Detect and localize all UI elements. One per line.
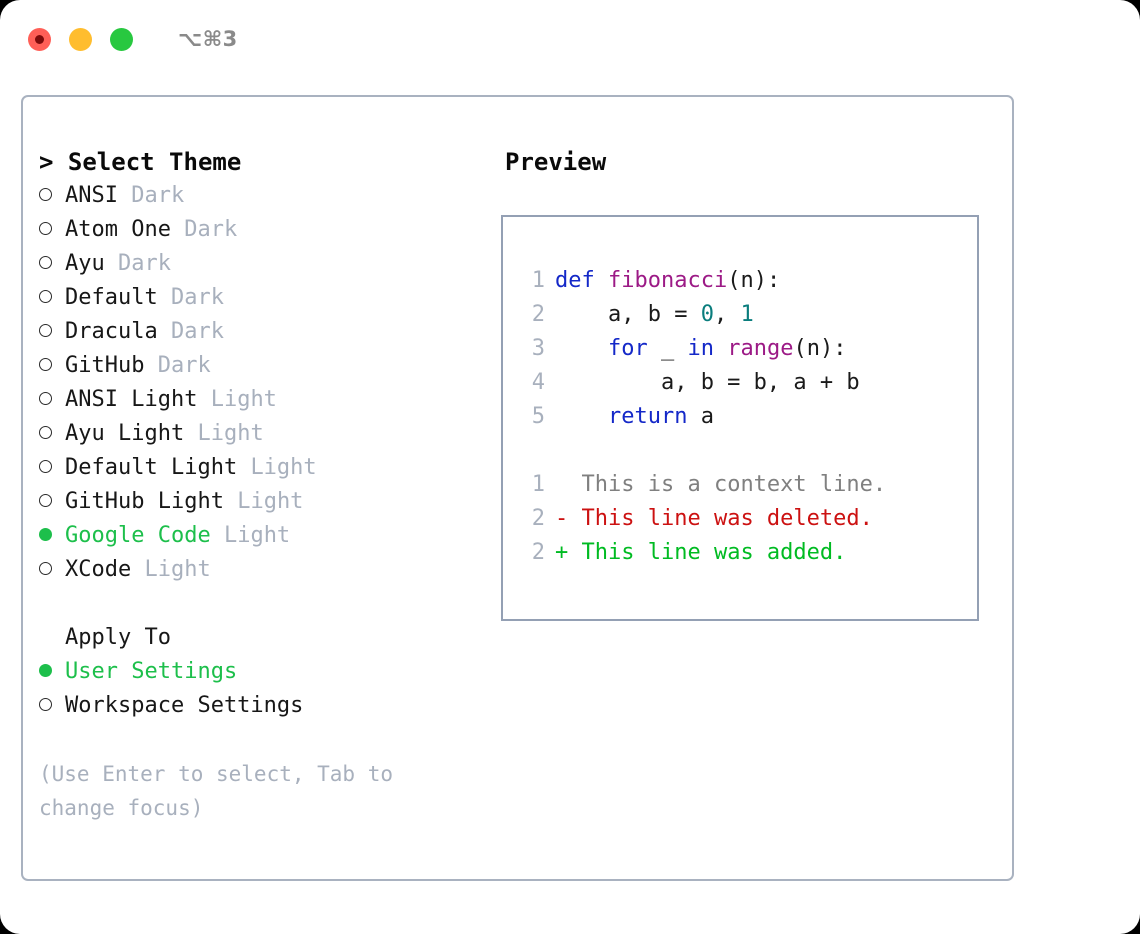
theme-option-variant: Light — [211, 383, 277, 417]
keyboard-shortcut-label: ⌥⌘3 — [178, 27, 238, 51]
radio-unselected-icon — [39, 324, 65, 337]
code-token-kw: in — [687, 336, 714, 361]
code-line-content: return a — [555, 400, 714, 434]
theme-option-label: Default Light — [65, 451, 237, 485]
theme-option-label: ANSI — [65, 179, 118, 213]
theme-option-variant: Dark — [171, 281, 224, 315]
apply-to-heading: Apply To — [39, 621, 491, 655]
line-number: 4 — [521, 366, 555, 400]
line-number: 2 — [521, 502, 555, 536]
theme-option-ayu-light[interactable]: Ayu Light Light — [39, 417, 491, 451]
code-line: 5 return a — [521, 400, 977, 434]
code-line: 2 a, b = 0, 1 — [521, 298, 977, 332]
radio-unselected-icon — [39, 698, 65, 711]
code-line-content: a, b = 0, 1 — [555, 298, 754, 332]
titlebar: ⌥⌘3 — [0, 0, 1140, 78]
select-theme-heading: > Select Theme — [39, 145, 491, 179]
line-number: 2 — [521, 536, 555, 570]
code-line-content: for _ in range(n): — [555, 332, 846, 366]
diff-line-add: 2+ This line was added. — [521, 536, 977, 570]
theme-option-variant: Dark — [158, 349, 211, 383]
code-token-plain — [714, 336, 727, 361]
code-token-num: 0 — [701, 302, 714, 327]
code-token-plain — [555, 336, 608, 361]
theme-option-variant: Light — [197, 417, 263, 451]
diff-line-del: 2- This line was deleted. — [521, 502, 977, 536]
theme-option-label: ANSI Light — [65, 383, 197, 417]
theme-option-dracula[interactable]: Dracula Dark — [39, 315, 491, 349]
preview-pane: Preview 1def fibonacci(n):2 a, b = 0, 13… — [491, 97, 1012, 879]
theme-option-variant: Dark — [184, 213, 237, 247]
close-button[interactable] — [28, 28, 51, 51]
theme-option-atom-one[interactable]: Atom One Dark — [39, 213, 491, 247]
theme-option-default[interactable]: Default Dark — [39, 281, 491, 315]
theme-option-github-light[interactable]: GitHub Light Light — [39, 485, 491, 519]
radio-selected-icon — [39, 664, 65, 677]
diff-sign — [555, 472, 568, 497]
code-token-plain: (n): — [727, 268, 780, 293]
line-number: 5 — [521, 400, 555, 434]
theme-option-google-code[interactable]: Google Code Light — [39, 519, 491, 553]
code-token-kw: for — [608, 336, 648, 361]
theme-option-variant: Dark — [118, 247, 171, 281]
theme-option-variant: Light — [144, 553, 210, 587]
theme-option-label: Ayu Light — [65, 417, 184, 451]
diff-text: This line was deleted. — [582, 506, 873, 531]
diff-sign: + — [555, 540, 568, 565]
theme-option-label: Google Code — [65, 519, 211, 553]
radio-unselected-icon — [39, 392, 65, 405]
theme-option-variant: Light — [224, 519, 290, 553]
code-token-fn: fibonacci — [608, 268, 727, 293]
theme-selector-pane: > Select Theme ANSI DarkAtom One DarkAyu… — [23, 97, 491, 879]
code-token-kw: def — [555, 268, 608, 293]
maximize-button[interactable] — [110, 28, 133, 51]
code-line: 3 for _ in range(n): — [521, 332, 977, 366]
apply-to-option-user-settings[interactable]: User Settings — [39, 655, 491, 689]
code-line: 4 a, b = b, a + b — [521, 366, 977, 400]
theme-option-label: Atom One — [65, 213, 171, 247]
code-token-kw: return — [608, 404, 687, 429]
code-token-plain: a — [687, 404, 714, 429]
keyboard-hint-text: (Use Enter to select, Tab to change focu… — [39, 757, 459, 825]
theme-option-default-light[interactable]: Default Light Light — [39, 451, 491, 485]
code-token-plain: _ — [648, 336, 688, 361]
theme-option-ansi[interactable]: ANSI Dark — [39, 179, 491, 213]
theme-option-list: ANSI DarkAtom One DarkAyu DarkDefault Da… — [39, 179, 491, 587]
radio-unselected-icon — [39, 460, 65, 473]
code-line-content: a, b = b, a + b — [555, 366, 860, 400]
code-token-plain: (n): — [793, 336, 846, 361]
theme-option-ansi-light[interactable]: ANSI Light Light — [39, 383, 491, 417]
line-number: 1 — [521, 264, 555, 298]
code-token-plain: , — [714, 302, 741, 327]
theme-option-variant: Light — [237, 485, 303, 519]
theme-option-label: XCode — [65, 553, 131, 587]
radio-unselected-icon — [39, 222, 65, 235]
window-controls — [28, 28, 133, 51]
theme-option-label: Ayu — [65, 247, 105, 281]
code-token-plain — [555, 404, 608, 429]
line-number: 3 — [521, 332, 555, 366]
code-token-num: 1 — [740, 302, 753, 327]
code-preview-box: 1def fibonacci(n):2 a, b = 0, 13 for _ i… — [501, 215, 979, 621]
diff-text: This line was added. — [582, 540, 847, 565]
theme-option-github[interactable]: GitHub Dark — [39, 349, 491, 383]
preview-heading: Preview — [505, 145, 1012, 179]
code-token-plain: a, b = b, a + b — [555, 370, 860, 395]
line-number: 2 — [521, 298, 555, 332]
main-frame: > Select Theme ANSI DarkAtom One DarkAyu… — [21, 95, 1014, 881]
diff-line-content: + This line was added. — [555, 536, 846, 570]
radio-selected-icon — [39, 528, 65, 541]
minimize-button[interactable] — [69, 28, 92, 51]
line-number: 1 — [521, 468, 555, 502]
theme-option-xcode[interactable]: XCode Light — [39, 553, 491, 587]
app-window: ⌥⌘3 > Select Theme ANSI DarkAtom One Dar… — [0, 0, 1140, 934]
code-sample: 1def fibonacci(n):2 a, b = 0, 13 for _ i… — [521, 264, 977, 434]
diff-line-content: - This line was deleted. — [555, 502, 873, 536]
radio-unselected-icon — [39, 256, 65, 269]
code-token-plain: a, b = — [555, 302, 701, 327]
radio-unselected-icon — [39, 358, 65, 371]
apply-to-option-label: User Settings — [65, 655, 237, 689]
diff-sign: - — [555, 506, 568, 531]
theme-option-label: GitHub — [65, 349, 144, 383]
theme-option-variant: Dark — [171, 315, 224, 349]
spacer — [39, 587, 491, 621]
radio-unselected-icon — [39, 494, 65, 507]
recording-indicator-icon — [35, 35, 44, 44]
theme-option-variant: Light — [250, 451, 316, 485]
diff-line-ctx: 1 This is a context line. — [521, 468, 977, 502]
code-line: 1def fibonacci(n): — [521, 264, 977, 298]
diff-line-content: This is a context line. — [555, 468, 886, 502]
radio-unselected-icon — [39, 290, 65, 303]
radio-unselected-icon — [39, 188, 65, 201]
theme-option-variant: Dark — [131, 179, 184, 213]
apply-to-option-label: Workspace Settings — [65, 689, 303, 723]
diff-sample: 1 This is a context line.2- This line wa… — [521, 468, 977, 570]
apply-to-option-list: User SettingsWorkspace Settings — [39, 655, 491, 723]
theme-option-ayu[interactable]: Ayu Dark — [39, 247, 491, 281]
radio-unselected-icon — [39, 562, 65, 575]
theme-option-label: Default — [65, 281, 158, 315]
code-line-content: def fibonacci(n): — [555, 264, 780, 298]
diff-text: This is a context line. — [582, 472, 887, 497]
code-spacer — [521, 434, 977, 468]
theme-option-label: GitHub Light — [65, 485, 224, 519]
theme-option-label: Dracula — [65, 315, 158, 349]
apply-to-option-workspace-settings[interactable]: Workspace Settings — [39, 689, 491, 723]
code-token-fn: range — [727, 336, 793, 361]
radio-unselected-icon — [39, 426, 65, 439]
